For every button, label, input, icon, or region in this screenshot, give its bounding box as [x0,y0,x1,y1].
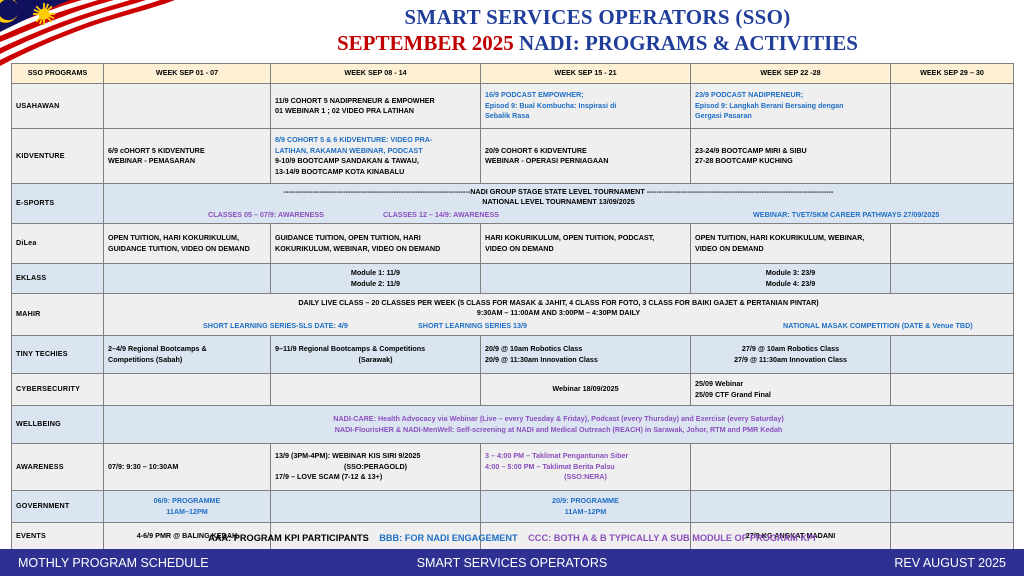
cell-line: KOKURIKULUM, WEBINAR, VIDEO ON DEMAND [275,244,476,255]
footer-right: REV AUGUST 2025 [894,556,1006,570]
row-label-tiny-techies: TINY TECHIES [12,336,104,374]
table-cell: 20/9 COHORT 6 KIDVENTUREWEBINAR - OPERAS… [481,129,691,184]
legend-aaa: AAA: PROGRAM KPI PARTICIPANTS [208,533,368,543]
table-row: TINY TECHIES2–4/9 Regional Bootcamps &Co… [12,336,1014,374]
row-label-eklass: EKLASS [12,264,104,294]
cell-line: 9-10/9 BOOTCAMP SANDAKAN & TAWAU, [275,156,476,167]
table-cell [891,129,1014,184]
legend-bbb: BBB: FOR NADI ENGAGEMENT [379,533,517,543]
table-cell [891,84,1014,129]
row-label-dilea: DiLea [12,224,104,264]
table-row: KIDVENTURE6/9 cOHORT 5 KIDVENTUREWEBINAR… [12,129,1014,184]
col-header-week-3: WEEK SEP 15 - 21 [481,64,691,84]
row-label-kidventure: KIDVENTURE [12,129,104,184]
cell-line: Module 1: 11/9 [275,268,476,279]
merged-annotation: NATIONAL MASAK COMPETITION (DATE & Venue… [783,321,973,332]
table-row: GOVERNMENT06/9: PROGRAMME11AM–12PM20/9: … [12,491,1014,523]
merged-annotation: WEBINAR: TVET/SKM CAREER PATHWAYS 27/09/… [753,210,939,221]
table-cell [891,491,1014,523]
cell-line: 25/09 Webinar [695,379,886,390]
row-label-usahawan: USAHAWAN [12,84,104,129]
footer-left: MOTHLY PROGRAM SCHEDULE [18,556,209,570]
col-header-week-4: WEEK SEP 22 -28 [691,64,891,84]
cell-line: GUIDANCE TUITION, VIDEO ON DEMAND [108,244,266,255]
cell-line: Module 2: 11/9 [275,279,476,290]
merged-line-1: DAILY LIVE CLASS – 20 CLASSES PER WEEK (… [108,298,1009,309]
table-cell: 9–11/9 Regional Bootcamps & Competitions… [271,336,481,374]
cell-line: (SSO:NERA) [485,472,686,483]
col-header-week-1: WEEK SEP 01 - 07 [104,64,271,84]
merged-annotations: SHORT LEARNING SERIES-SLS DATE: 4/9SHORT… [108,321,1009,332]
table-cell: 20/9 @ 10am Robotics Class20/9 @ 11:30am… [481,336,691,374]
cell-line: 11/9 COHORT 5 NADIPRENEUR & EMPOWHER [275,96,476,107]
table-cell: 3 – 4:00 PM – Taklimat Pengantunan Siber… [481,444,691,491]
cell-line: (SSO:PERAGOLD) [275,462,476,473]
col-header-programs: SSO PROGRAMS [12,64,104,84]
cell-line: WEBINAR - OPERASI PERNIAGAAN [485,156,686,167]
title-line-1: SMART SERVICES OPERATORS (SSO) [175,4,1020,30]
row-label-mahir: MAHIR [12,294,104,336]
cell-line: 17/9 – LOVE SCAM (7-12 & 13+) [275,472,476,483]
cell-line: Competitions (Sabah) [108,355,266,366]
table-cell: OPEN TUITION, HARI KOKURIKULUM,GUIDANCE … [104,224,271,264]
table-cell: 8/9 COHORT 5 & 6 KIDVENTURE: VIDEO PRA-L… [271,129,481,184]
cell-line: 6/9 cOHORT 5 KIDVENTURE [108,146,266,157]
merged-annotation: CLASSES 05 – 07/9: AWARENESS [208,210,324,221]
row-label-government: GOVERNMENT [12,491,104,523]
merged-line-1: ----------------------------------------… [108,187,1009,198]
title-subject: NADI: PROGRAMS & ACTIVITIES [514,31,858,55]
cell-line: 11AM–12PM [108,507,266,518]
table-cell [891,374,1014,406]
merged-annotation: CLASSES 12 – 14/9: AWARENESS [383,210,499,221]
merged-annotation: SHORT LEARNING SERIES 13/9 [418,321,527,332]
cell-line: Gergasi Pasaran [695,111,886,122]
table-cell: 2–4/9 Regional Bootcamps &Competitions (… [104,336,271,374]
merged-cell: DAILY LIVE CLASS – 20 CLASSES PER WEEK (… [104,294,1014,336]
cell-line: 3 – 4:00 PM – Taklimat Pengantunan Siber [485,451,686,462]
cell-line: 27/9 @ 10am Robotics Class [695,344,886,355]
table-body: USAHAWAN11/9 COHORT 5 NADIPRENEUR & EMPO… [12,84,1014,550]
schedule-table: SSO PROGRAMS WEEK SEP 01 - 07 WEEK SEP 0… [11,63,1014,550]
title-month-year: SEPTEMBER 2025 [337,31,514,55]
table-cell: 23-24/9 BOOTCAMP MIRI & SIBU27-28 BOOTCA… [691,129,891,184]
cell-line: 20/9 @ 11:30am Innovation Class [485,355,686,366]
merged-cell: NADI-CARE: Health Advocacy via Webinar (… [104,406,1014,444]
table-cell: 6/9 cOHORT 5 KIDVENTUREWEBINAR - PEMASAR… [104,129,271,184]
table-row: WELLBEINGNADI-CARE: Health Advocacy via … [12,406,1014,444]
cell-line: 23-24/9 BOOTCAMP MIRI & SIBU [695,146,886,157]
table-cell [691,444,891,491]
table-cell [271,374,481,406]
table-cell [104,264,271,294]
col-header-week-5: WEEK SEP 29 – 30 [891,64,1014,84]
row-label-e-sports: E-SPORTS [12,184,104,224]
cell-line: 16/9 PODCAST EMPOWHER; [485,90,686,101]
page-title: SMART SERVICES OPERATORS (SSO) SEPTEMBER… [175,4,1020,56]
cell-line: 8/9 COHORT 5 & 6 KIDVENTURE: VIDEO PRA- [275,135,476,146]
table-cell: Module 3: 23/9Module 4: 23/9 [691,264,891,294]
cell-line: Episod 9: Bual Kombucha: Inspirasi di [485,101,686,112]
merged-line-2: 9:30AM – 11:00AM AND 3:00PM – 4:30PM DAI… [108,308,1009,319]
table-row: USAHAWAN11/9 COHORT 5 NADIPRENEUR & EMPO… [12,84,1014,129]
table-cell [104,84,271,129]
cell-line: 25/09 CTF Grand Final [695,390,886,401]
table-cell [891,224,1014,264]
cell-line: Episod 9: Langkah Berani Bersaing dengan [695,101,886,112]
merged-line-1: NADI-CARE: Health Advocacy via Webinar (… [108,414,1009,425]
cell-line: Module 3: 23/9 [695,268,886,279]
cell-line: Module 4: 23/9 [695,279,886,290]
cell-line: 11AM–12PM [485,507,686,518]
cell-line: VIDEO ON DEMAND [695,244,886,255]
table-cell [691,491,891,523]
table-cell: 07/9: 9:30 – 10:30AM [104,444,271,491]
cell-line: 27/9 @ 11:30am Innovation Class [695,355,886,366]
cell-line: (Sarawak) [275,355,476,366]
cell-line: 20/9 COHORT 6 KIDVENTURE [485,146,686,157]
cell-line: HARI KOKURIKULUM, OPEN TUITION, PODCAST, [485,233,686,244]
cell-line: 06/9: PROGRAMME [108,496,266,507]
cell-line: 4:00 – 5:00 PM – Taklimat Berita Palsu [485,462,686,473]
merged-cell: ----------------------------------------… [104,184,1014,224]
table-cell [271,491,481,523]
table-cell: 25/09 Webinar25/09 CTF Grand Final [691,374,891,406]
table-cell [104,374,271,406]
table-cell: Module 1: 11/9Module 2: 11/9 [271,264,481,294]
table-cell: 11/9 COHORT 5 NADIPRENEUR & EMPOWHER01 W… [271,84,481,129]
table-row: DiLeaOPEN TUITION, HARI KOKURIKULUM,GUID… [12,224,1014,264]
table-cell: 13/9 (3PM-4PM): WEBINAR KIS SIRI 9/2025(… [271,444,481,491]
cell-line: 13-14/9 BOOTCAMP KOTA KINABALU [275,167,476,178]
malaysia-flag-icon [0,0,175,72]
table-row: AWARENESS07/9: 9:30 – 10:30AM13/9 (3PM-4… [12,444,1014,491]
table-cell: OPEN TUITION, HARI KOKURIKULUM, WEBINAR,… [691,224,891,264]
cell-line: 9–11/9 Regional Bootcamps & Competitions [275,344,476,355]
cell-line: 01 WEBINAR 1 ; 02 VIDEO PRA LATIHAN [275,106,476,117]
table-cell [891,264,1014,294]
merged-annotation: SHORT LEARNING SERIES-SLS DATE: 4/9 [203,321,348,332]
slide-page: SMART SERVICES OPERATORS (SSO) SEPTEMBER… [0,0,1024,576]
cell-line: 27-28 BOOTCAMP KUCHING [695,156,886,167]
table-cell [481,264,691,294]
cell-line: VIDEO ON DEMAND [485,244,686,255]
title-line-2: SEPTEMBER 2025 NADI: PROGRAMS & ACTIVITI… [175,30,1020,56]
cell-line: 13/9 (3PM-4PM): WEBINAR KIS SIRI 9/2025 [275,451,476,462]
table-cell: HARI KOKURIKULUM, OPEN TUITION, PODCAST,… [481,224,691,264]
cell-line: WEBINAR - PEMASARAN [108,156,266,167]
table-header-row: SSO PROGRAMS WEEK SEP 01 - 07 WEEK SEP 0… [12,64,1014,84]
table-cell: GUIDANCE TUITION, OPEN TUITION, HARIKOKU… [271,224,481,264]
cell-line: GUIDANCE TUITION, OPEN TUITION, HARI [275,233,476,244]
table-cell: 20/9: PROGRAMME11AM–12PM [481,491,691,523]
cell-line: LATIHAN, RAKAMAN WEBINAR, PODCAST [275,146,476,157]
cell-line: 2–4/9 Regional Bootcamps & [108,344,266,355]
row-label-cybersecurity: CYBERSECURITY [12,374,104,406]
table-row: MAHIRDAILY LIVE CLASS – 20 CLASSES PER W… [12,294,1014,336]
cell-line: 07/9: 9:30 – 10:30AM [108,462,266,473]
table-cell [891,444,1014,491]
merged-annotations: CLASSES 05 – 07/9: AWARENESSCLASSES 12 –… [108,210,1009,221]
table-cell: 16/9 PODCAST EMPOWHER;Episod 9: Bual Kom… [481,84,691,129]
cell-line: 23/9 PODCAST NADIPRENEUR; [695,90,886,101]
cell-line: Webinar 18/09/2025 [485,384,686,395]
col-header-week-2: WEEK SEP 08 - 14 [271,64,481,84]
cell-line: Sebalik Rasa [485,111,686,122]
table-cell: 06/9: PROGRAMME11AM–12PM [104,491,271,523]
row-label-wellbeing: WELLBEING [12,406,104,444]
table-cell: Webinar 18/09/2025 [481,374,691,406]
row-label-awareness: AWARENESS [12,444,104,491]
merged-line-2: NATIONAL LEVEL TOURNAMENT 13/09/2025 [108,197,1009,208]
cell-line: OPEN TUITION, HARI KOKURIKULUM, [108,233,266,244]
table-cell: 23/9 PODCAST NADIPRENEUR;Episod 9: Langk… [691,84,891,129]
merged-line-2: NADI-FlourisHER & NADI-MenWell: Self-scr… [108,425,1009,436]
legend: AAA: PROGRAM KPI PARTICIPANTS BBB: FOR N… [0,533,1024,543]
table-row: E-SPORTS--------------------------------… [12,184,1014,224]
cell-line: OPEN TUITION, HARI KOKURIKULUM, WEBINAR, [695,233,886,244]
cell-line: 20/9: PROGRAMME [485,496,686,507]
cell-line: 20/9 @ 10am Robotics Class [485,344,686,355]
table-cell: 27/9 @ 10am Robotics Class27/9 @ 11:30am… [691,336,891,374]
table-cell [891,336,1014,374]
table-row: CYBERSECURITYWebinar 18/09/202525/09 Web… [12,374,1014,406]
table-row: EKLASSModule 1: 11/9Module 2: 11/9Module… [12,264,1014,294]
legend-ccc: CCC: BOTH A & B TYPICALLY A SUB MODULE O… [528,533,816,543]
footer-bar: MOTHLY PROGRAM SCHEDULE SMART SERVICES O… [0,549,1024,576]
